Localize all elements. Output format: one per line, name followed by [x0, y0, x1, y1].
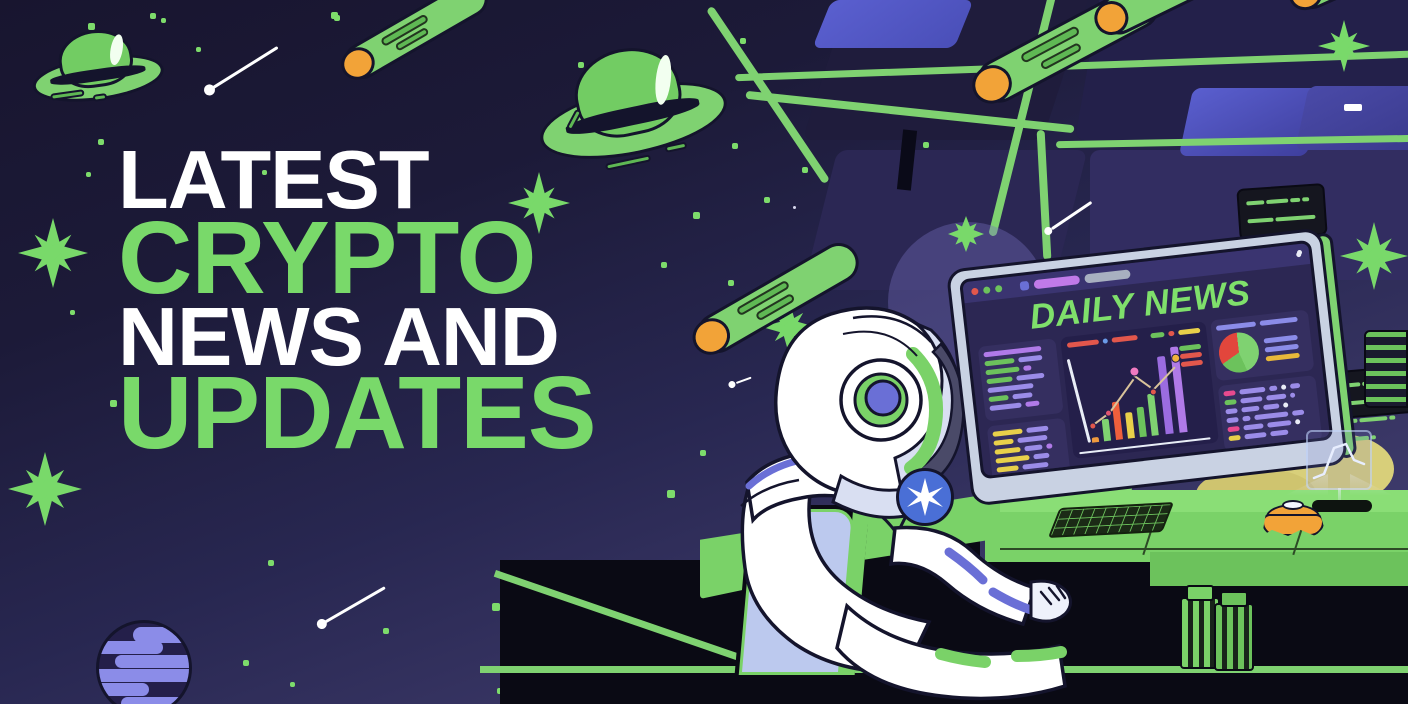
- green-ufo-small: [26, 21, 170, 130]
- star-badge: [896, 468, 954, 526]
- desktop-monitor[interactable]: DAILY NEWS: [946, 227, 1349, 506]
- star-icon: [896, 468, 954, 526]
- starburst-icon-top-right: [1318, 20, 1370, 72]
- headline-line-4: UPDATES: [118, 367, 596, 460]
- poster-canvas: LATEST CRYPTO NEWS AND UPDATES: [0, 0, 1408, 704]
- starburst-icon-left-lower: [8, 452, 82, 526]
- chart-point: [1129, 366, 1140, 377]
- starburst-icon-left-upper: [18, 218, 88, 288]
- shooting-star-top: [201, 39, 285, 99]
- chart-plot-area: [1070, 342, 1211, 444]
- vent-panel-right: [1364, 330, 1408, 408]
- shooting-star-bottom: [314, 580, 391, 631]
- chart-point: [1089, 422, 1097, 430]
- browser-tab-active[interactable]: [1033, 275, 1080, 289]
- holographic-chart: [1306, 430, 1378, 506]
- page-title: LATEST CRYPTO NEWS AND UPDATES: [118, 143, 596, 460]
- comet-top-left: [338, 0, 495, 86]
- striped-planet-bottom-left: [96, 620, 192, 704]
- article-list-yellow[interactable]: [987, 418, 1073, 480]
- pie-summary-card[interactable]: [1210, 309, 1314, 381]
- pie-chart: [1217, 330, 1261, 374]
- article-list-purple[interactable]: [978, 338, 1064, 421]
- monitor-screen[interactable]: DAILY NEWS: [959, 240, 1333, 480]
- chart-y-axis: [1067, 359, 1091, 443]
- window-close-dot[interactable]: [971, 288, 979, 296]
- chart-point: [1149, 388, 1157, 396]
- chart-bar: [1092, 437, 1100, 443]
- tab-favicon: [1020, 281, 1030, 291]
- planet-star-icon: [948, 216, 984, 252]
- chart-bar: [1125, 412, 1135, 439]
- chart-bar: [1147, 393, 1159, 436]
- green-canisters: [1180, 585, 1270, 671]
- chart-bar: [1102, 419, 1111, 442]
- wall-light-indicator: [1344, 104, 1362, 111]
- window-min-dot[interactable]: [983, 286, 991, 294]
- browser-tab-inactive[interactable]: [1084, 269, 1131, 283]
- orange-device[interactable]: [1262, 496, 1324, 538]
- chart-point: [1105, 409, 1113, 417]
- starburst-icon-right-mid: [1340, 222, 1408, 290]
- legend-chip: [1067, 339, 1099, 348]
- window-max-dot[interactable]: [995, 285, 1003, 293]
- market-chart-card[interactable]: [1060, 321, 1219, 459]
- chart-bar: [1137, 407, 1147, 438]
- window-glass-upper-left: [812, 0, 973, 48]
